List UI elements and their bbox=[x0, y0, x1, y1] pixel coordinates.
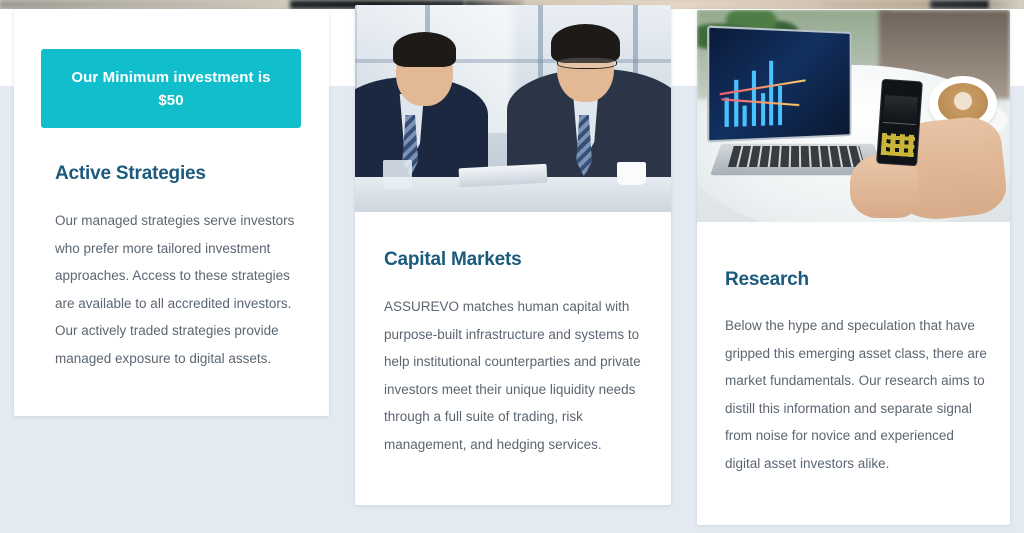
laptop-screen-trading-chart bbox=[707, 26, 851, 143]
two-businessmen-meeting-photo bbox=[355, 5, 671, 212]
card-title-capital-markets: Capital Markets bbox=[384, 249, 521, 271]
minimum-investment-badge: Our Minimum investment is $50 bbox=[41, 49, 301, 128]
strip-segment bbox=[930, 0, 990, 9]
strip-segment bbox=[0, 0, 290, 9]
card-body-research: Below the hype and speculation that have… bbox=[725, 312, 987, 477]
strip-segment bbox=[990, 0, 1024, 9]
card-capital-markets[interactable]: Capital Markets ASSUREVO matches human c… bbox=[355, 5, 671, 505]
badge-amount: $50 bbox=[158, 93, 183, 108]
card-body-active-strategies: Our managed strategies serve investors w… bbox=[55, 207, 302, 372]
strip-segment bbox=[820, 0, 930, 9]
laptop-trading-charts-phone-coffee-photo bbox=[697, 10, 1010, 222]
card-title-research: Research bbox=[725, 269, 809, 291]
card-body-capital-markets: ASSUREVO matches human capital with purp… bbox=[384, 293, 642, 458]
card-active-strategies[interactable]: Our Minimum investment is $50 Active Str… bbox=[14, 9, 329, 416]
coffee-cup bbox=[617, 162, 645, 185]
eyeglasses bbox=[557, 57, 617, 69]
card-research[interactable]: Research Below the hype and speculation … bbox=[697, 10, 1010, 525]
phone-chart bbox=[883, 95, 917, 125]
badge-line-1: Our Minimum investment is bbox=[71, 70, 270, 85]
smartphone-trading-app bbox=[876, 79, 923, 166]
person-left-hair bbox=[393, 32, 456, 67]
card-title-active-strategies: Active Strategies bbox=[55, 163, 206, 185]
laptop-keyboard bbox=[728, 146, 866, 167]
phone-keypad bbox=[880, 133, 914, 157]
water-glass bbox=[383, 160, 411, 189]
